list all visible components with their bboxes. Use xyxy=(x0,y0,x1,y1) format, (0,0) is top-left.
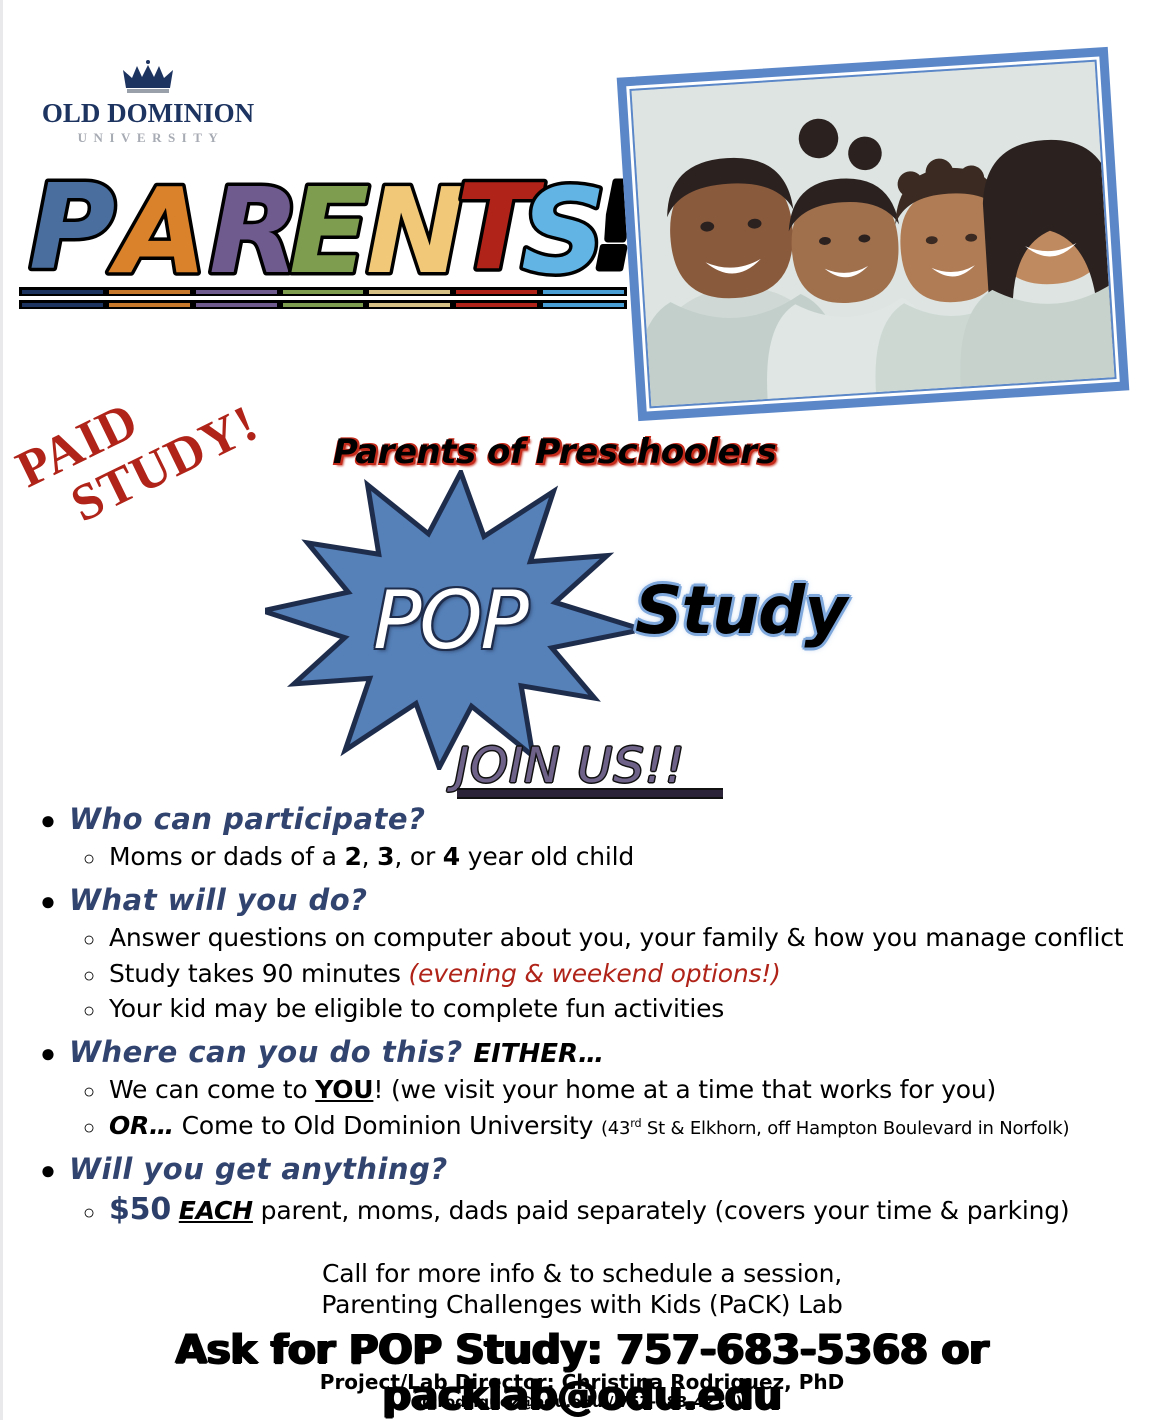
parents-wordart-title: PARENTS! xyxy=(21,168,641,288)
wordart-letter-a: A xyxy=(108,168,207,288)
bullet-hollow-icon: ○ xyxy=(83,930,109,950)
crown-icon xyxy=(120,58,176,98)
call-line-1: Call for more info & to schedule a sessi… xyxy=(3,1258,1158,1289)
divider-segment xyxy=(283,303,364,307)
odu-wordmark: OLD DOMINION xyxy=(33,100,263,127)
detail-list-item: ○Answer questions on computer about you,… xyxy=(83,924,1142,953)
divider-segment xyxy=(22,303,103,307)
detail-item-text: OR… Come to Old Dominion University (43r… xyxy=(109,1112,1069,1141)
detail-item-text: Answer questions on computer about you, … xyxy=(109,924,1123,953)
bullet-filled-icon: ● xyxy=(27,807,69,833)
odu-subtitle: UNIVERSITY xyxy=(33,130,263,146)
detail-section-heading: ●Where can you do this? EITHER… xyxy=(27,1035,1142,1069)
director-contact[interactable]: (crodriguez@odu.edu / 757-683-4210) xyxy=(3,1393,1158,1411)
flyer-page: OLD DOMINION UNIVERSITY PARENTS! xyxy=(0,0,1158,1420)
divider-segment xyxy=(369,290,450,294)
join-us-underline xyxy=(457,788,723,799)
bullet-hollow-icon: ○ xyxy=(83,1118,109,1138)
bullet-filled-icon: ● xyxy=(27,1040,69,1066)
bullet-hollow-icon: ○ xyxy=(83,1082,109,1102)
pop-subtitle-heading: Parents of Preschoolers xyxy=(333,432,776,472)
detail-item-text: $50 EACH parent, moms, dads paid separat… xyxy=(109,1193,1069,1228)
divider-segment xyxy=(196,290,277,294)
family-photo-illustration xyxy=(632,62,1115,407)
divider-rule-bottom xyxy=(19,300,627,309)
title-divider-rules xyxy=(19,287,627,313)
divider-segment xyxy=(109,303,190,307)
section-heading-text: What will you do? xyxy=(69,883,367,917)
detail-section-heading: ●What will you do? xyxy=(27,883,1142,917)
wordart-letter-p: P xyxy=(29,168,115,288)
bullet-hollow-icon: ○ xyxy=(83,966,109,986)
odu-logo: OLD DOMINION UNIVERSITY xyxy=(33,58,263,146)
family-photo-frame xyxy=(617,47,1130,421)
divider-segment xyxy=(369,303,450,307)
divider-segment xyxy=(456,303,537,307)
bullet-filled-icon: ● xyxy=(27,1157,69,1183)
detail-item-text: Study takes 90 minutes (evening & weeken… xyxy=(109,960,781,989)
director-name: Project/Lab Director: Christina Rodrigue… xyxy=(3,1370,1158,1394)
detail-list-item: ○We can come to YOU! (we visit your home… xyxy=(83,1076,1142,1105)
detail-list-item: ○Moms or dads of a 2, 3, or 4 year old c… xyxy=(83,843,1142,872)
divider-segment xyxy=(543,290,624,294)
divider-segment xyxy=(283,290,364,294)
detail-list-item: ○OR… Come to Old Dominion University (43… xyxy=(83,1112,1142,1141)
detail-section-heading: ●Who can participate? xyxy=(27,802,1142,836)
divider-segment xyxy=(543,303,624,307)
wordart-letter-e: E xyxy=(289,168,370,288)
detail-list-item: ○Study takes 90 minutes (evening & weeke… xyxy=(83,960,1142,989)
family-photo xyxy=(629,60,1116,409)
call-info: Call for more info & to schedule a sessi… xyxy=(3,1258,1158,1321)
call-line-2: Parenting Challenges with Kids (PaCK) La… xyxy=(3,1289,1158,1320)
parents-wordart-svg: PARENTS! xyxy=(21,168,641,288)
detail-section-heading: ●Will you get anything? xyxy=(27,1152,1142,1186)
bullet-filled-icon: ● xyxy=(27,888,69,914)
divider-segment xyxy=(109,290,190,294)
pop-starburst: POP xyxy=(265,470,635,770)
join-us-heading: JOIN US!! xyxy=(455,738,685,794)
bullet-hollow-icon: ○ xyxy=(83,849,109,869)
bullet-hollow-icon: ○ xyxy=(83,1001,109,1021)
section-heading-text: Will you get anything? xyxy=(69,1152,448,1186)
detail-item-text: We can come to YOU! (we visit your home … xyxy=(109,1076,996,1105)
details-list: ●Who can participate?○Moms or dads of a … xyxy=(27,802,1142,1227)
wordart-letter-r: R xyxy=(209,168,300,288)
divider-segment xyxy=(196,303,277,307)
section-heading-text: Where can you do this? EITHER… xyxy=(69,1035,604,1069)
detail-item-text: Moms or dads of a 2, 3, or 4 year old ch… xyxy=(109,843,634,872)
pop-label: POP xyxy=(265,574,635,667)
detail-list-item: ○Your kid may be eligible to complete fu… xyxy=(83,995,1142,1024)
wordart-letter-n: N xyxy=(366,168,465,288)
divider-segment xyxy=(456,290,537,294)
detail-item-text: Your kid may be eligible to complete fun… xyxy=(109,995,724,1024)
section-heading-text: Who can participate? xyxy=(69,802,425,836)
divider-segment xyxy=(22,290,103,294)
study-label: Study xyxy=(635,572,846,649)
divider-rule-top xyxy=(19,287,627,296)
detail-list-item: ○$50 EACH parent, moms, dads paid separa… xyxy=(83,1193,1142,1228)
bullet-hollow-icon: ○ xyxy=(83,1203,109,1223)
